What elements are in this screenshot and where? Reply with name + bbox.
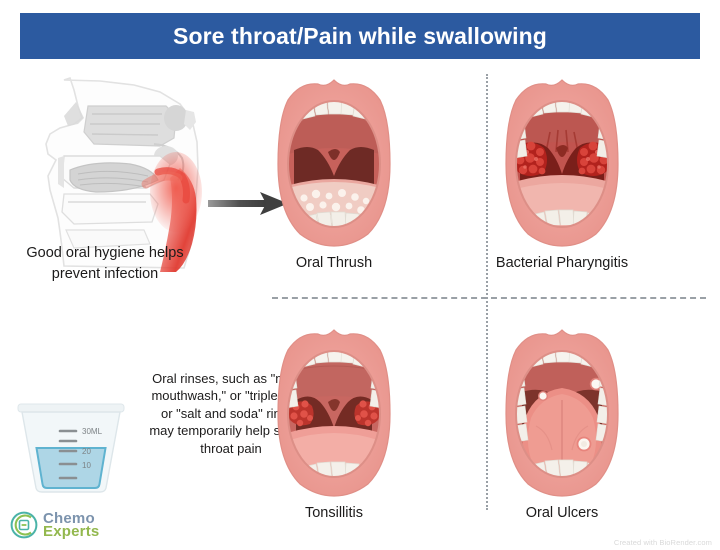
brand-name-experts: Experts	[43, 524, 99, 539]
open-mouth-bacterial-pharyngitis-icon	[500, 76, 624, 248]
head-sagittal-cross-section-icon	[34, 72, 234, 272]
brand-logo[interactable]: Chemo Experts	[10, 511, 99, 539]
condition-card-oral-ulcers[interactable]: Oral Ulcers	[462, 326, 662, 523]
page-title: Sore throat/Pain while swallowing	[173, 25, 547, 48]
open-mouth-oral-thrush-icon	[272, 76, 396, 248]
condition-label-oral-ulcers: Oral Ulcers	[462, 504, 662, 523]
condition-card-oral-thrush[interactable]: Oral Thrush	[234, 76, 434, 273]
oral-hygiene-note: Good oral hygiene helps prevent infectio…	[24, 243, 186, 285]
cup-marking-20: 20	[82, 447, 91, 456]
cup-marking-30ml: 30ML	[82, 427, 103, 436]
attribution-text: Created with BioRender.com	[614, 538, 712, 547]
condition-card-bacterial-pharyngitis[interactable]: Bacterial Pharyngitis	[462, 76, 662, 273]
measuring-cup-icon: 30ML 20 10	[12, 396, 130, 496]
divider-horizontal	[272, 297, 706, 299]
open-mouth-tonsillitis-icon	[272, 326, 396, 498]
condition-label-tonsillitis: Tonsillitis	[234, 504, 434, 523]
cup-marking-10: 10	[82, 461, 91, 470]
open-mouth-oral-ulcers-icon	[500, 326, 624, 498]
page-header-bar: Sore throat/Pain while swallowing	[20, 13, 700, 59]
condition-label-oral-thrush: Oral Thrush	[234, 254, 434, 273]
condition-label-bacterial-pharyngitis: Bacterial Pharyngitis	[462, 254, 662, 273]
chemoexperts-circle-logo-icon	[10, 511, 38, 539]
brand-wordmark: Chemo Experts	[43, 511, 99, 539]
condition-card-tonsillitis[interactable]: Tonsillitis	[234, 326, 434, 523]
